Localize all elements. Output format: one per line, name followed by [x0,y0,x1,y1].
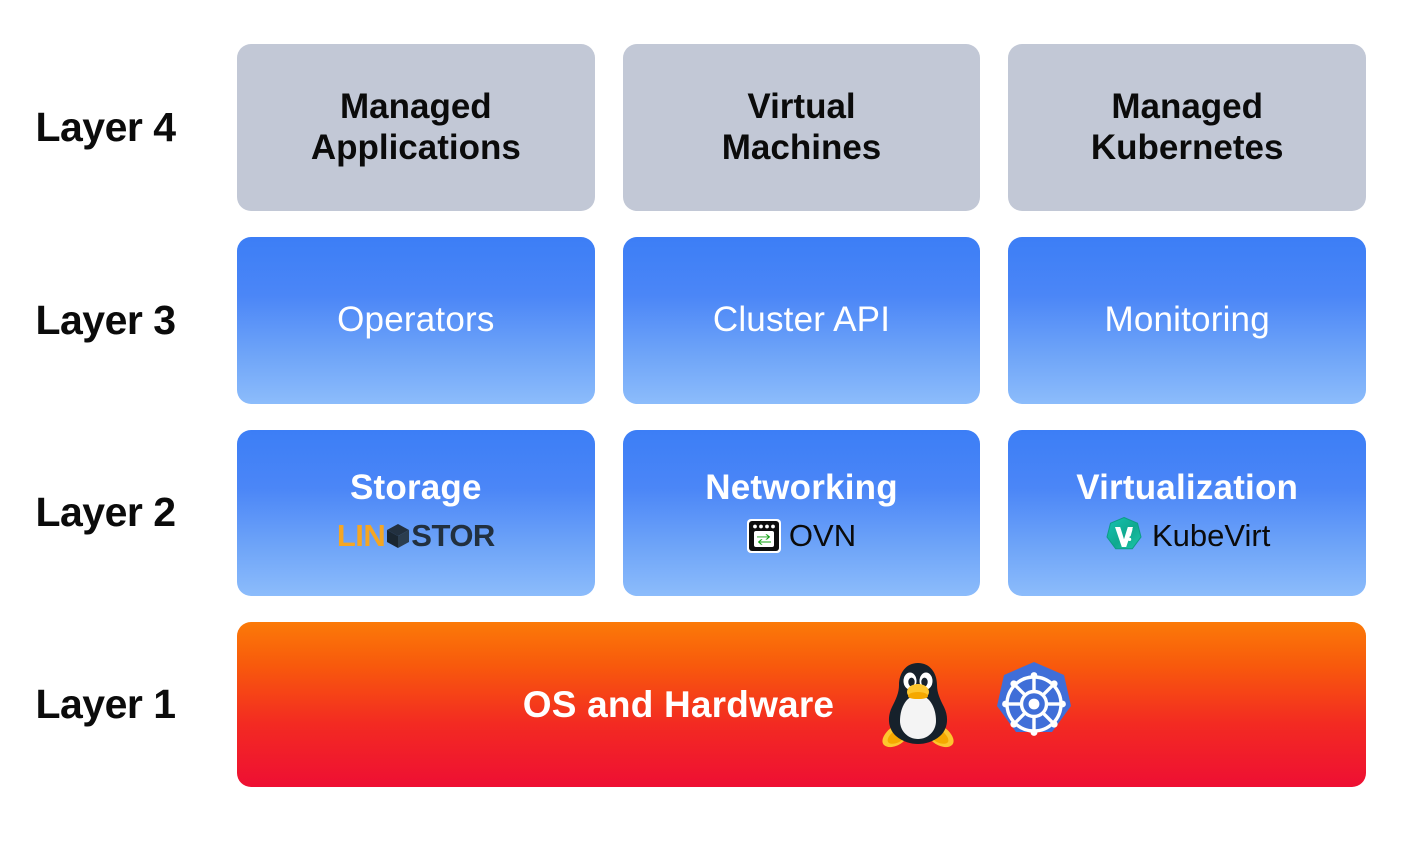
row-gap-2-1 [0,596,1366,622]
box-managed-kubernetes-line2: Kubernetes [1091,127,1284,168]
os-and-hardware-label: OS and Hardware [523,684,834,726]
box-managed-applications-line1: Managed [340,86,492,127]
box-networking-label: Networking [705,468,898,508]
box-monitoring-label: Monitoring [1104,300,1269,340]
linux-tux-icon [874,657,962,753]
layer-2-cells: Storage LIN STOR [237,430,1366,597]
box-virtual-machines-line2: Machines [722,127,882,168]
ovn-switch-icon [747,519,781,553]
box-managed-kubernetes[interactable]: Managed Kubernetes [1008,44,1366,211]
layer-1-icons [874,657,1080,753]
box-virtual-machines-line1: Virtual [747,86,855,127]
ovn-label: OVN [789,520,856,551]
box-managed-applications[interactable]: Managed Applications [237,44,595,211]
linstor-logo: LIN STOR [337,514,495,558]
layer-row-4: Layer 4 Managed Applications Virtual Mac… [0,44,1366,211]
box-storage-label: Storage [350,468,482,508]
row-gap-4-3 [0,211,1366,237]
layer-row-1: Layer 1 OS and Hardware [0,622,1366,787]
box-cluster-api-label: Cluster API [713,300,890,340]
kubevirt-heptagon-icon [1104,516,1144,556]
layer-label-2: Layer 2 [0,430,237,597]
linstor-cube-icon [386,523,410,549]
box-networking[interactable]: Networking [623,430,981,597]
box-operators[interactable]: Operators [237,237,595,404]
box-managed-applications-line2: Applications [311,127,521,168]
architecture-stack-diagram: Layer 4 Managed Applications Virtual Mac… [0,0,1417,844]
ovn-logo: OVN [747,514,856,558]
layer-label-4: Layer 4 [0,44,237,211]
row-gap-3-2 [0,404,1366,430]
kubernetes-wheel-icon [988,659,1080,751]
linstor-wordmark: LIN STOR [337,520,495,551]
layer-4-cells: Managed Applications Virtual Machines Ma… [237,44,1366,211]
box-virtualization[interactable]: Virtualization [1008,430,1366,597]
box-operators-label: Operators [337,300,494,340]
kubevirt-label: KubeVirt [1152,520,1270,551]
box-monitoring[interactable]: Monitoring [1008,237,1366,404]
linstor-stor-text: STOR [411,520,495,551]
kubevirt-logo: KubeVirt [1104,514,1270,558]
layer-label-3: Layer 3 [0,237,237,404]
box-virtual-machines[interactable]: Virtual Machines [623,44,981,211]
layer-row-2: Layer 2 Storage LIN S [0,430,1366,597]
linstor-lin-text: LIN [337,520,385,551]
box-virtualization-label: Virtualization [1076,468,1298,508]
layer-3-cells: Operators Cluster API Monitoring [237,237,1366,404]
box-storage[interactable]: Storage LIN STOR [237,430,595,597]
box-os-and-hardware[interactable]: OS and Hardware [237,622,1366,787]
box-managed-kubernetes-line1: Managed [1111,86,1263,127]
box-cluster-api[interactable]: Cluster API [623,237,981,404]
layer-label-1: Layer 1 [0,622,237,787]
layer-row-3: Layer 3 Operators Cluster API Monitoring [0,237,1366,404]
